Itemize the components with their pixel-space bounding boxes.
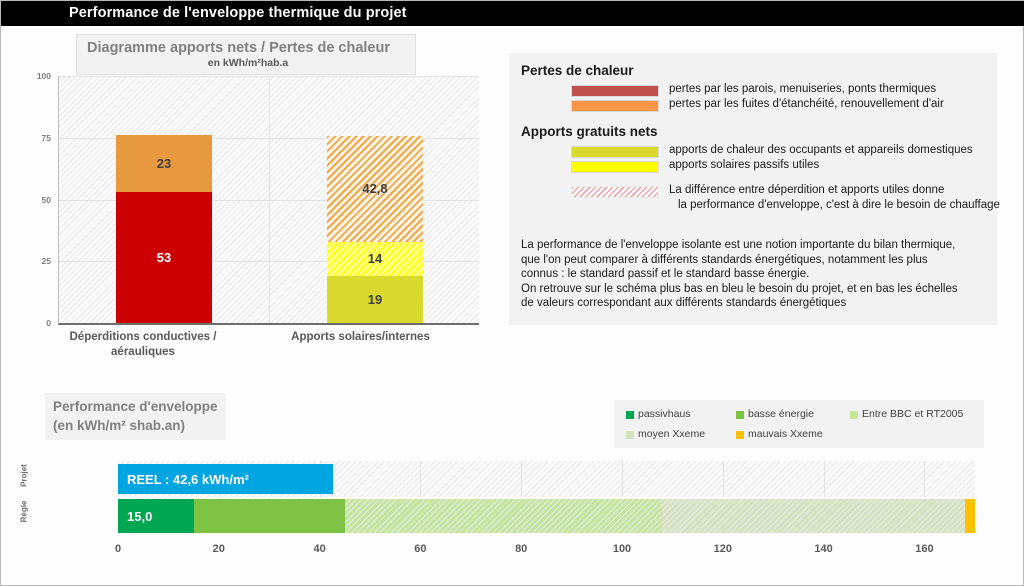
vgrid-160 [924, 461, 925, 497]
x-tick-0: 0 [115, 543, 121, 555]
bar-segment-occupants[interactable]: 19 [327, 276, 423, 323]
bar-segment-fuites[interactable]: 23 [116, 135, 212, 192]
x-tick-20: 20 [213, 543, 225, 555]
bar-segment-parois[interactable]: 53 [116, 192, 212, 323]
paragraph-line-5: de valeurs correspondant aux différents … [521, 296, 991, 311]
category-label-apports: Apports solaires/internes [268, 330, 453, 345]
bar-segment-solaires[interactable]: 14 [327, 242, 423, 277]
bar-segment-difference[interactable]: 42,8 [327, 136, 423, 242]
band-passivhaus[interactable]: 15,0 [118, 499, 194, 533]
bottom-chart-title-box: Performance d'enveloppe (en kWh/m² shab.… [45, 393, 226, 440]
legend-swatch-solaires [571, 161, 659, 173]
page-title: Performance de l'enveloppe thermique du … [69, 5, 407, 21]
band-mauvais-xxeme[interactable] [965, 499, 975, 533]
y-tick-75: 75 [17, 133, 51, 143]
x-tick-60: 60 [414, 543, 426, 555]
apports-pertes-chart: 100 75 50 25 0 53 23 [13, 34, 495, 374]
bottom-legend-swatch-mauvais-xxeme [736, 431, 744, 439]
bottom-chart-title-l1: Performance d'enveloppe [53, 397, 218, 416]
bottom-plot-area: REEL : 42,6 kWh/m² 15,0 [118, 461, 975, 533]
bottom-legend-label-entre-bbc-rt2005: Entre BBC et RT2005 [862, 408, 963, 420]
rule-bar-label: 15,0 [118, 509, 152, 524]
x-tick-160: 160 [915, 543, 933, 555]
rule-row-track: 15,0 [118, 499, 975, 533]
legend-heading-gains: Apports gratuits nets [521, 124, 658, 139]
app-window: Performance de l'enveloppe thermique du … [0, 0, 1024, 586]
explanatory-paragraph: La performance de l'enveloppe isolante e… [521, 238, 991, 311]
bottom-legend-label-mauvais-xxeme: mauvais Xxeme [748, 428, 823, 440]
bottom-legend-swatch-entre-bbc-rt2005 [850, 411, 858, 419]
bottom-legend-label-passivhaus: passivhaus [638, 408, 691, 420]
project-bar[interactable]: REEL : 42,6 kWh/m² [118, 464, 333, 494]
x-tick-80: 80 [515, 543, 527, 555]
y-tick-100: 100 [17, 71, 51, 81]
bottom-legend-swatch-basse-energie [736, 411, 744, 419]
bottom-legend-label-moyen-xxeme: moyen Xxeme [638, 428, 705, 440]
chart-title-unit: en kWh/m²hab.a [87, 57, 409, 69]
legend-label-solaires: apports solaires passifs utiles [669, 159, 819, 171]
chart-title-box: Diagramme apports nets / Pertes de chale… [76, 34, 416, 75]
bottom-legend-swatch-moyen-xxeme [626, 431, 634, 439]
legend-label-difference-l1: La différence entre déperdition et appor… [669, 183, 1000, 198]
bar-deperditions[interactable]: 53 23 [116, 135, 212, 323]
row-label-projet: Projet [20, 456, 29, 496]
bar-value-parois: 53 [157, 250, 171, 265]
bottom-chart-title-l2: (en kWh/m² shab.an) [53, 416, 218, 435]
category-label-apports-l1: Apports solaires/internes [268, 330, 453, 345]
window-title-bar: Performance de l'enveloppe thermique du … [1, 1, 1024, 26]
legend-label-difference-l2: la performance d'enveloppe, c'est à dire… [669, 198, 1000, 213]
band-basse-energie[interactable] [194, 499, 345, 533]
vgrid-140 [824, 461, 825, 497]
x-tick-100: 100 [613, 543, 631, 555]
x-tick-140: 140 [814, 543, 832, 555]
project-row-track: REEL : 42,6 kWh/m² [118, 461, 975, 498]
category-label-deperditions-l2: aérauliques [53, 345, 233, 360]
paragraph-line-4: On retrouve sur le schéma plus bas en bl… [521, 282, 991, 297]
x-tick-40: 40 [313, 543, 325, 555]
band-entre-bbc-rt2005[interactable] [345, 499, 663, 533]
bottom-x-axis: 0 20 40 60 80 100 120 140 160 [118, 543, 975, 559]
vgrid-120 [723, 461, 724, 497]
legend-swatch-parois [571, 85, 659, 97]
y-axis: 100 75 50 25 0 [13, 76, 51, 323]
legend-info-panel: Pertes de chaleur pertes par les parois,… [509, 53, 997, 325]
plot-area: 53 23 19 14 42,8 [58, 76, 479, 325]
band-moyen-xxeme[interactable] [662, 499, 964, 533]
category-label-deperditions: Déperditions conductives / aérauliques [53, 330, 233, 360]
legend-heading-losses: Pertes de chaleur [521, 63, 634, 78]
paragraph-line-3: connus : le standard passif et le standa… [521, 267, 991, 282]
legend-swatch-difference [571, 186, 659, 198]
project-bar-label: REEL : 42,6 kWh/m² [118, 472, 249, 487]
category-separator [269, 76, 270, 323]
vgrid-100 [622, 461, 623, 497]
legend-label-occupants: apports de chaleur des occupants et appa… [669, 144, 973, 156]
bottom-chart-legend: passivhaus basse énergie Entre BBC et RT… [614, 400, 984, 448]
chart-title-main: Diagramme apports nets / Pertes de chale… [87, 40, 409, 56]
bar-value-difference: 42,8 [362, 181, 387, 196]
vgrid-80 [521, 461, 522, 497]
paragraph-line-1: La performance de l'enveloppe isolante e… [521, 238, 991, 253]
bar-value-occupants: 19 [368, 292, 382, 307]
legend-label-difference: La différence entre déperdition et appor… [669, 183, 1000, 213]
y-tick-50: 50 [17, 195, 51, 205]
row-label-regle: Règle [20, 492, 29, 532]
bar-value-fuites: 23 [157, 156, 171, 171]
bottom-legend-swatch-passivhaus [626, 411, 634, 419]
legend-swatch-occupants [571, 146, 659, 158]
legend-label-parois: pertes par les parois, menuiseries, pont… [669, 83, 936, 95]
y-tick-25: 25 [17, 256, 51, 266]
y-tick-0: 0 [17, 318, 51, 328]
vgrid-60 [420, 461, 421, 497]
bottom-legend-label-basse-energie: basse énergie [748, 408, 814, 420]
paragraph-line-2: que l'on peut comparer à différents stan… [521, 253, 991, 268]
legend-swatch-fuites [571, 100, 659, 112]
category-label-deperditions-l1: Déperditions conductives / [53, 330, 233, 345]
bar-value-solaires: 14 [368, 251, 382, 266]
bar-apports[interactable]: 19 14 42,8 [327, 136, 423, 323]
x-tick-120: 120 [714, 543, 732, 555]
legend-label-fuites: pertes par les fuites d'étanchéité, reno… [669, 98, 944, 110]
